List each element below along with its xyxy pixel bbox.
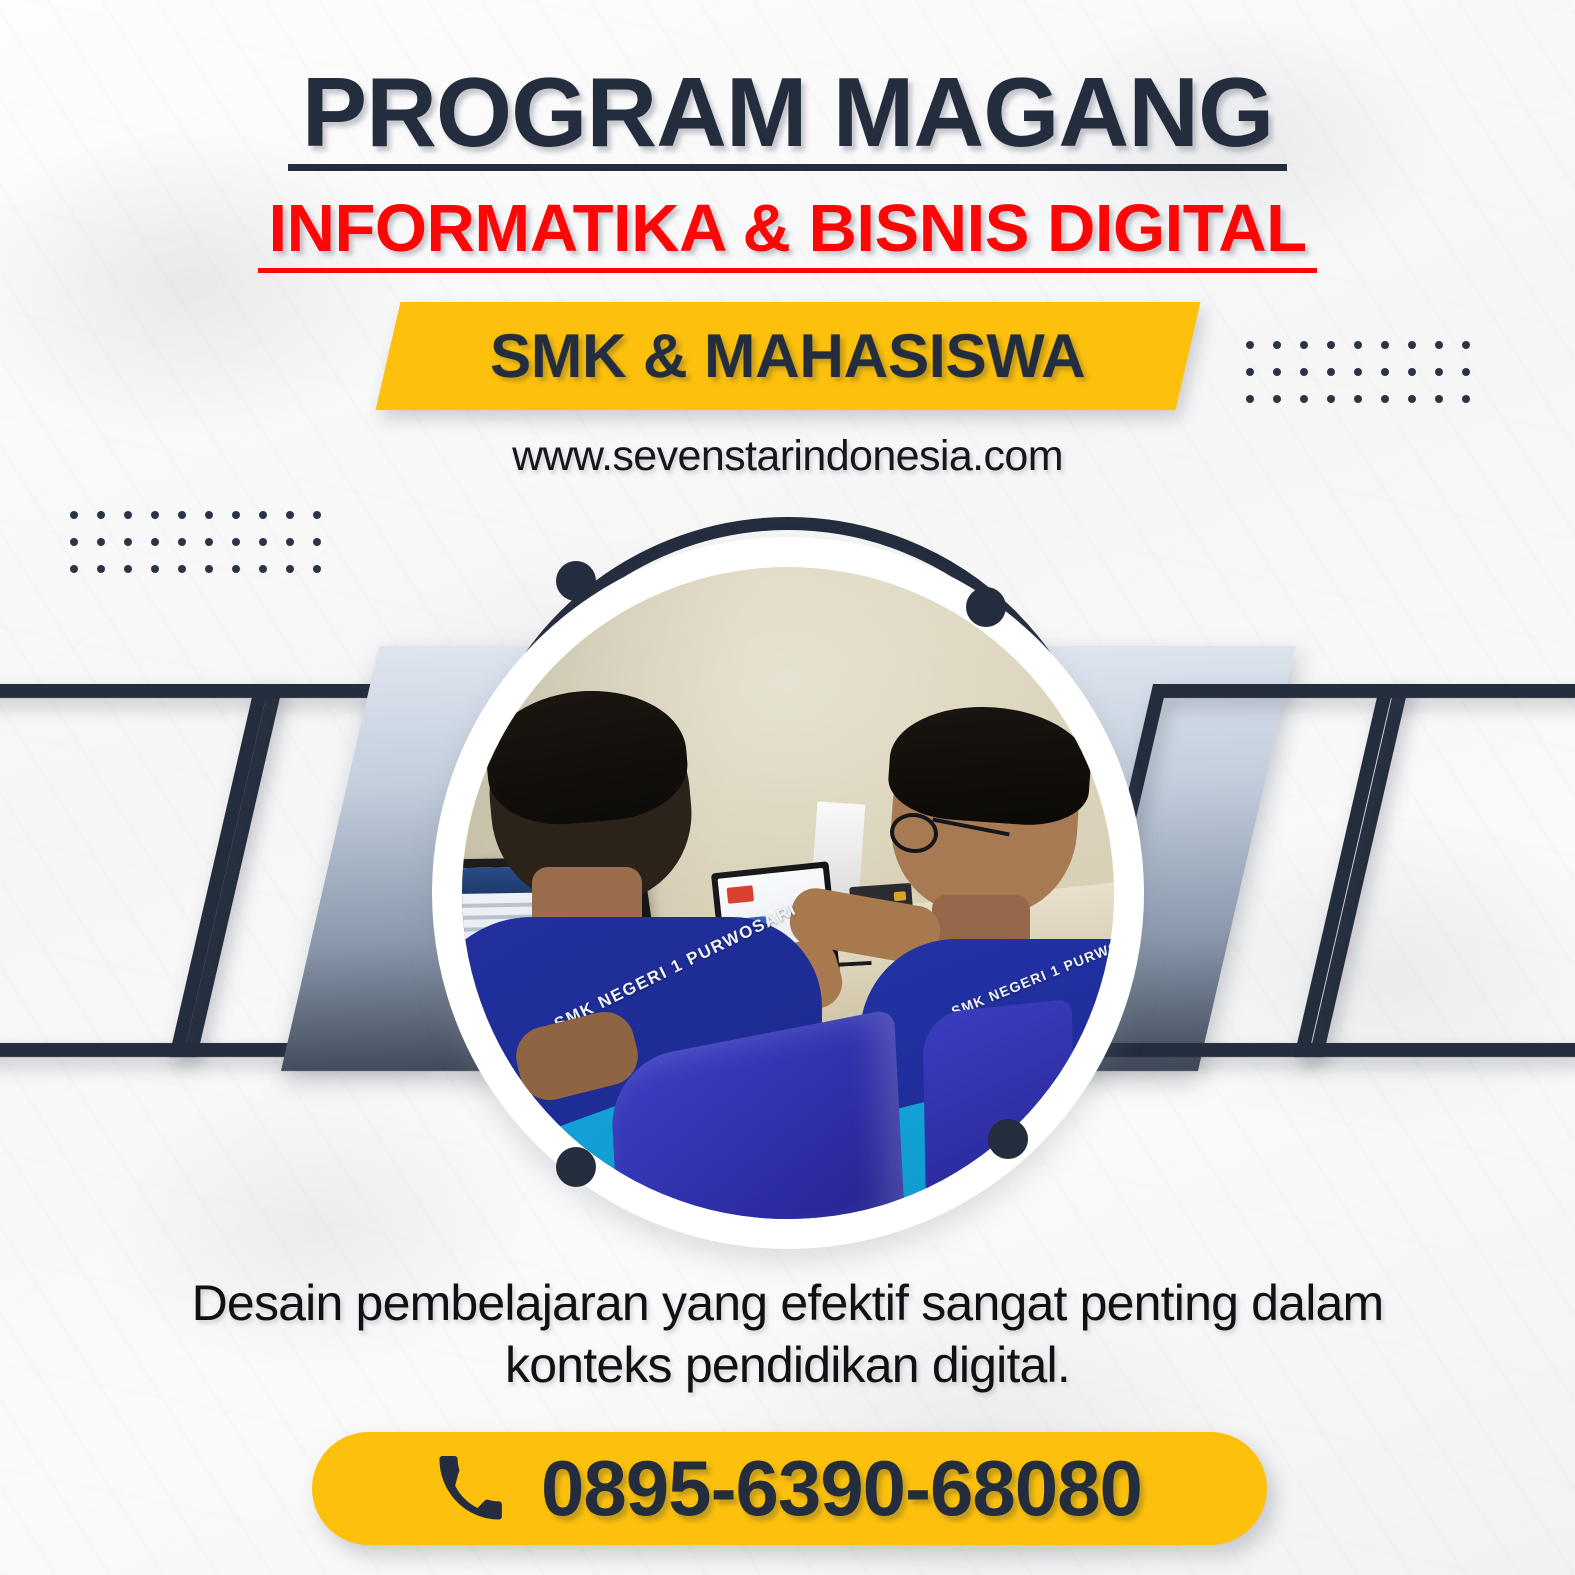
promotional-poster: PROGRAM MAGANG INFORMATIKA & BISNIS DIGI… [0,0,1575,1575]
decor-dot [97,511,105,519]
photo-ring-dot-bottom-right [988,1119,1028,1159]
decor-dot [259,511,267,519]
decor-dot [151,538,159,546]
decor-dot [70,538,78,546]
photo-area: SMK NEGERI 1 PURWOSARI SMK NEGERI 1 PURW… [428,505,1148,1265]
audience-banner: SMK & MAHASISWA [375,302,1200,410]
decor-dot [286,565,294,573]
decor-dot [313,538,321,546]
decor-dot-grid-left [70,511,340,592]
decor-dot [232,565,240,573]
decor-dot [178,565,186,573]
decor-dot [205,538,213,546]
audience-banner-wrap: SMK & MAHASISWA [0,302,1575,410]
photo-ring-dot-bottom-left [556,1147,596,1187]
decor-dot [286,511,294,519]
photo-ring-dot-top-left [556,561,596,601]
decor-dot [178,538,186,546]
decor-dot [178,511,186,519]
decor-dot [124,538,132,546]
decor-dot [286,538,294,546]
scene-laptop-secondary-red-block [727,885,755,904]
decor-dot [313,511,321,519]
audience-banner-label: SMK & MAHASISWA [490,321,1085,392]
decor-dot [205,511,213,519]
scene-device-led [894,891,907,901]
poster-tagline: Desain pembelajaran yang efektif sangat … [150,1272,1425,1396]
decor-dot [232,511,240,519]
decor-dot [313,565,321,573]
poster-title-main: PROGRAM MAGANG [288,62,1287,171]
decor-dot [259,538,267,546]
decor-dot [124,511,132,519]
decor-dot [124,565,132,573]
decor-dot [151,565,159,573]
phone-number-label: 0895-6390-68080 [541,1443,1142,1534]
decor-dot [97,565,105,573]
decor-dot [151,511,159,519]
scene-chair-right [923,999,1076,1219]
decor-dot [70,511,78,519]
decor-dot [97,538,105,546]
decor-dot [232,538,240,546]
headline-block: PROGRAM MAGANG INFORMATIKA & BISNIS DIGI… [0,62,1575,273]
photo-ring-dot-top-right [966,587,1006,627]
website-url[interactable]: www.sevenstarindonesia.com [0,432,1575,481]
poster-title-sub: INFORMATIKA & BISNIS DIGITAL [258,193,1316,273]
decor-dot [70,565,78,573]
decor-dot [259,565,267,573]
poster-title-sub-wrap: INFORMATIKA & BISNIS DIGITAL [0,193,1575,273]
decor-dot [205,565,213,573]
phone-handset-icon [437,1456,503,1522]
phone-cta-button[interactable]: 0895-6390-68080 [312,1432,1267,1545]
